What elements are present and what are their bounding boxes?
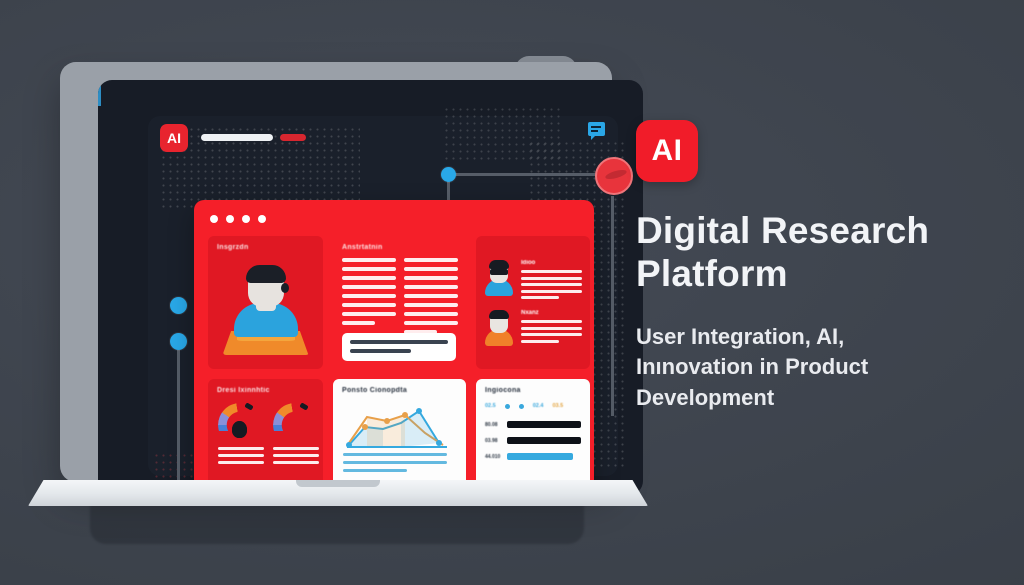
dashboard-panel: Insgrzdn (194, 200, 594, 495)
node-top-blue[interactable] (441, 167, 456, 182)
gauge-group (218, 403, 319, 468)
avatar (484, 258, 514, 296)
card-profile[interactable]: Insgrzdn (208, 236, 323, 369)
people-entry-1-text: Idioo (521, 258, 582, 303)
chat-bubble-icon[interactable] (588, 122, 605, 136)
page-subtitle-line-3: Development (636, 383, 996, 413)
stats-bar-fill (507, 453, 573, 460)
article-column-left (342, 258, 396, 339)
card-stats-title: Ingiocona (485, 387, 521, 394)
hero-ai-badge: AI (636, 120, 698, 182)
people-entry-1-title: Idioo (521, 260, 582, 266)
connector-line-left-down (177, 350, 180, 495)
article-columns (342, 258, 458, 339)
stats-bar-row: 44.010 (485, 453, 583, 460)
window-dots (210, 215, 266, 223)
search-input[interactable] (342, 333, 456, 361)
stats-bar-fill (507, 421, 581, 428)
stats-legend: 02.5 02.4 03.5 (485, 403, 563, 409)
stats-bar-label: 03.98 (485, 438, 502, 444)
screenshot-stage: AI (0, 0, 1024, 585)
page-subtitle-line-2: Inınovation in Product (636, 352, 996, 382)
page-title-line-2: Platform (636, 253, 996, 296)
card-article-title: Anstrtatnin (342, 244, 383, 251)
line-chart-svg (343, 403, 455, 451)
laptop-illustration: AI (28, 48, 648, 548)
dashboard-grid: Insgrzdn (208, 236, 580, 495)
line-chart-caption (343, 453, 447, 477)
laptop-base-shadow (90, 504, 584, 544)
hero-section: AI Digital Research Platform User Integr… (636, 120, 996, 413)
laptop-screen: AI (98, 80, 643, 495)
people-entry-2-title: Nxanz (521, 310, 582, 316)
connector-line-right (611, 196, 614, 416)
stats-bar-row: 03.98 (485, 437, 583, 444)
connector-line-left-between (98, 80, 101, 106)
page-subtitle-line-1: User Integration, AI, (636, 322, 996, 352)
stats-bar-label: 44.010 (485, 454, 502, 460)
stats-bar-row: 80.08 (485, 421, 583, 428)
card-profile-title: Insgrzdn (217, 244, 249, 251)
legend-item-2: 02.4 (533, 403, 544, 409)
legend-dot-2 (519, 404, 524, 409)
screen-strip-red (280, 134, 306, 141)
screen-strip-white (201, 134, 273, 141)
avatar (484, 308, 514, 346)
screen-ai-badge: AI (160, 124, 188, 152)
node-left-upper-blue[interactable] (170, 297, 187, 314)
laptop-base-notch (296, 480, 380, 487)
person-avatar-illustration (223, 267, 309, 355)
card-people[interactable]: Idioo Nxanz (476, 236, 590, 369)
article-column-right (404, 258, 458, 339)
legend-dot-1 (505, 404, 510, 409)
people-entry-2[interactable]: Nxanz (484, 308, 582, 346)
line-chart-plot (343, 403, 455, 451)
stats-bar-fill (507, 437, 581, 444)
laptop-lid: AI (60, 62, 612, 482)
legend-item-3: 03.5 (552, 403, 563, 409)
node-left-lower-blue[interactable] (170, 333, 187, 350)
card-line-chart[interactable]: Ponsto Cionopdta (333, 379, 466, 494)
legend-item-1: 02.5 (485, 403, 496, 409)
node-red-circle[interactable] (595, 157, 633, 195)
gauge-2 (273, 403, 319, 468)
card-stats[interactable]: Ingiocona 02.5 02.4 03.5 80.08 (476, 379, 590, 494)
page-title: Digital Research Platform (636, 210, 996, 296)
stats-bars: 80.08 03.98 44.010 (485, 421, 583, 469)
stats-bar-label: 80.08 (485, 422, 502, 428)
connector-line-top (454, 173, 606, 176)
card-article[interactable]: Anstrtatnin (333, 236, 466, 369)
card-gauges[interactable]: Dresi Ixinnhtic (208, 379, 323, 494)
people-entry-1[interactable]: Idioo (484, 258, 582, 303)
page-subtitle: User Integration, AI, Inınovation in Pro… (636, 322, 996, 413)
card-gauges-title: Dresi Ixinnhtic (217, 387, 270, 394)
people-entry-2-text: Nxanz (521, 308, 582, 346)
card-line-chart-title: Ponsto Cionopdta (342, 387, 407, 394)
page-title-line-1: Digital Research (636, 210, 996, 253)
